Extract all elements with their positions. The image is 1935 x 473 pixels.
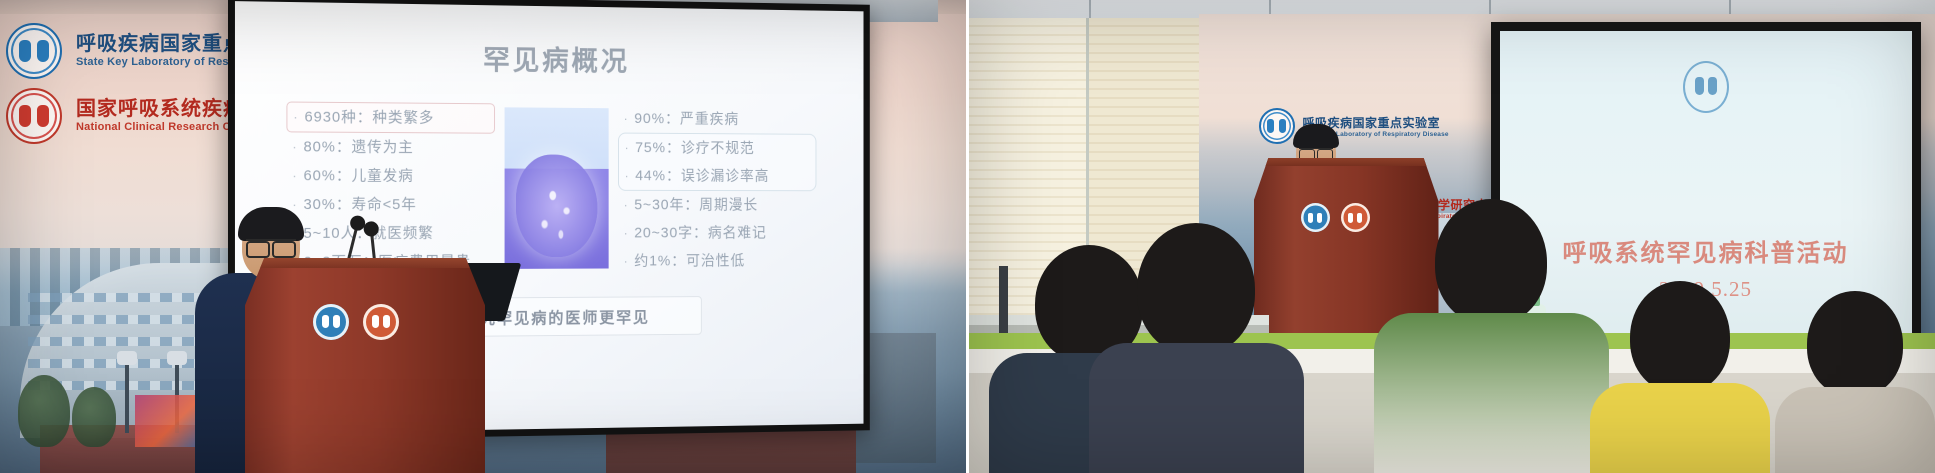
bullet-dot-icon: · bbox=[624, 111, 629, 126]
audience-member bbox=[1089, 223, 1304, 473]
left-photo: 呼吸疾病国家重点实验室 State Key Laboratory of Resp… bbox=[0, 0, 966, 473]
classroom-scene: 呼吸疾病国家重点实验室 State Key Laboratory of Resp… bbox=[969, 0, 1935, 473]
list-item: ·20~30字：病名难记 bbox=[618, 219, 816, 247]
bullet-dot-icon: · bbox=[624, 254, 629, 269]
slide-title: 罕见病概况 bbox=[265, 36, 837, 82]
slide-bullets-right: ·90%：严重疾病 ·75%：诊疗不规范 ·44%：误诊漏诊率高 bbox=[618, 104, 816, 275]
speaker-hair bbox=[1293, 124, 1339, 148]
bullet-dot-icon: · bbox=[292, 197, 297, 212]
bullet-dot-icon: · bbox=[625, 169, 630, 184]
list-item: ·90%：严重疾病 bbox=[618, 104, 816, 133]
bullet-dot-icon: · bbox=[624, 198, 629, 213]
speaker-hair bbox=[238, 207, 304, 241]
glasses-icon bbox=[246, 239, 296, 252]
lungs-outline-logo-icon bbox=[1683, 61, 1729, 113]
lungs-emblem-blue-icon bbox=[6, 23, 62, 79]
list-item: ·44%：误诊漏诊率高 bbox=[619, 162, 816, 191]
banner-tree-icon bbox=[18, 375, 70, 447]
red-lung-emblem-icon bbox=[1341, 203, 1370, 232]
blue-lung-emblem-icon bbox=[1301, 203, 1330, 232]
banner-tree-icon bbox=[72, 387, 116, 447]
blue-lung-emblem-icon bbox=[313, 304, 349, 340]
list-item: ·约1%：可治性低 bbox=[618, 247, 816, 276]
highlighted-group: ·75%：诊疗不规范 ·44%：误诊漏诊率高 bbox=[618, 133, 816, 192]
slide-center-image bbox=[505, 103, 609, 268]
list-item: ·60%：儿童发病 bbox=[286, 161, 495, 190]
list-item: ·6930种：种类繁多 bbox=[286, 102, 495, 134]
right-photo: 呼吸疾病国家重点实验室 State Key Laboratory of Resp… bbox=[969, 0, 1935, 473]
audience-member bbox=[1590, 281, 1770, 473]
two-photo-composite: 呼吸疾病国家重点实验室 State Key Laboratory of Resp… bbox=[0, 0, 1935, 473]
red-lung-emblem-icon bbox=[363, 304, 399, 340]
molecular-cell-illustration-icon bbox=[505, 107, 609, 269]
list-item: ·5~30年：周期漫长 bbox=[618, 191, 816, 219]
bullet-dot-icon: · bbox=[293, 110, 298, 125]
glasses-icon bbox=[1299, 148, 1333, 158]
bullet-dot-icon: · bbox=[292, 139, 297, 154]
audience-member bbox=[1775, 291, 1935, 473]
podium bbox=[245, 258, 485, 473]
bullet-dot-icon: · bbox=[292, 168, 297, 183]
bullet-dot-icon: · bbox=[624, 226, 629, 241]
audience-member bbox=[1374, 199, 1609, 473]
banner-streetlamp-icon bbox=[125, 361, 129, 433]
lungs-emblem-red-icon bbox=[6, 88, 62, 144]
list-item: ·75%：诊疗不规范 bbox=[619, 134, 816, 163]
bullet-dot-icon: · bbox=[625, 140, 630, 155]
list-item: ·80%：遗传为主 bbox=[286, 132, 495, 162]
